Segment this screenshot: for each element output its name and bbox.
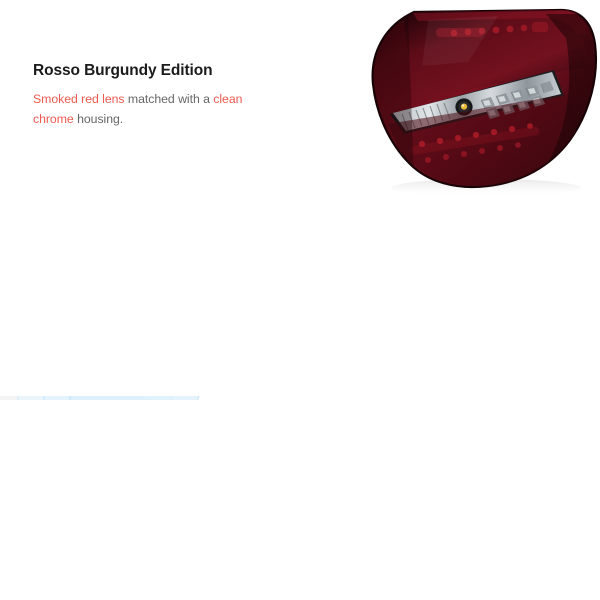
tail-light-housing [368, 6, 600, 187]
feature-description-1: Smoked red lens matched with a clean chr… [33, 90, 283, 130]
highlight-text: Smoked red lens [33, 92, 125, 106]
feature-panel-rosso-burgundy-edition: Rosso Burgundy Edition Smoked red lens m… [0, 0, 600, 198]
product-feature-page: Rosso Burgundy Edition Smoked red lens m… [0, 0, 600, 600]
tail-light-photo [318, 4, 600, 194]
feature-panel-triple-layer-protection: Lens [0, 198, 600, 400]
feature-text-block-1: Rosso Burgundy Edition Smoked red lens m… [33, 62, 283, 129]
plain-text: matched with a [125, 92, 214, 106]
feature-panel-micro-prism-reflectors: Micro-Prism Reflectors Internally design… [0, 400, 600, 600]
plain-text: housing. [74, 112, 123, 126]
page-title-rosso: Rosso Burgundy Edition [33, 62, 283, 81]
